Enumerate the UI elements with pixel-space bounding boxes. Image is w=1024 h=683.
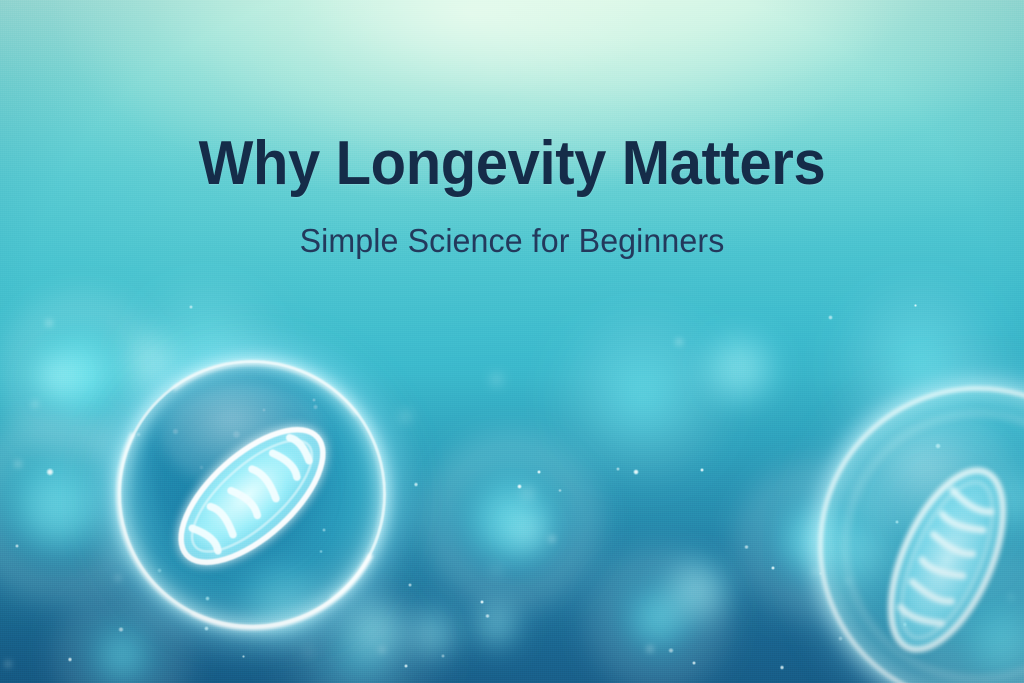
background-vignette [0,0,1024,683]
hero-banner: Why Longevity Matters Simple Science for… [0,0,1024,683]
page-title: Why Longevity Matters [33,132,990,196]
page-subtitle: Simple Science for Beginners [13,222,1011,260]
hero-text-block: Why Longevity Matters Simple Science for… [0,132,1024,260]
